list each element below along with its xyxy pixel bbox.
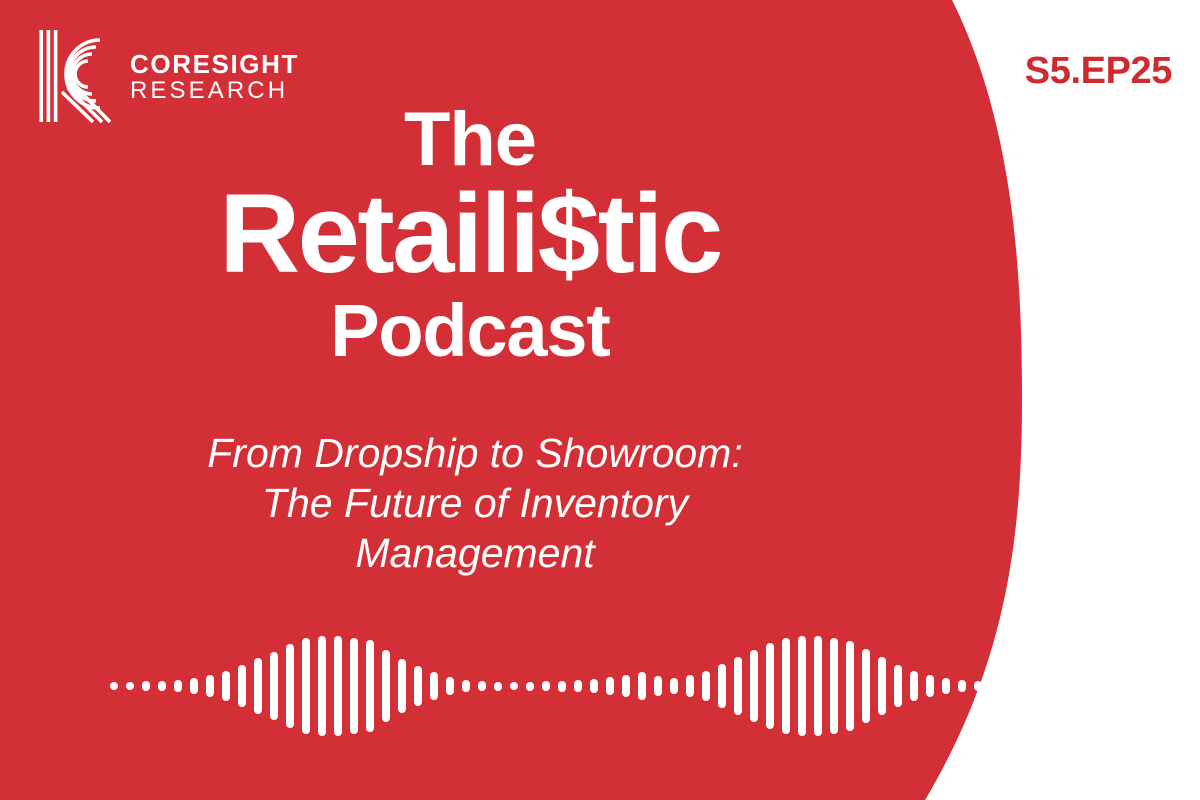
waveform-bar	[190, 678, 198, 694]
waveform-bar	[926, 675, 934, 697]
waveform-bar	[1054, 679, 1062, 693]
waveform-bar	[478, 681, 486, 691]
waveform-bar	[414, 666, 422, 706]
waveform-bar	[382, 650, 390, 722]
waveform-bar	[1006, 681, 1014, 692]
waveform-bar	[206, 675, 214, 697]
waveform-bar	[1022, 680, 1030, 692]
waveform-bar	[606, 677, 614, 695]
waveform-bar	[430, 672, 438, 700]
waveform-bar	[894, 665, 902, 707]
waveform-bar	[1118, 675, 1126, 697]
waveform-bar	[686, 675, 694, 697]
waveform-bar	[542, 681, 550, 691]
logo-word-research: RESEARCH	[130, 78, 299, 105]
waveform-bar	[1134, 674, 1142, 698]
waveform-bar	[782, 638, 790, 734]
waveform-bar	[350, 638, 358, 734]
episode-title-line-1: From Dropship to Showroom:	[0, 428, 950, 478]
waveform-bar	[286, 644, 294, 728]
waveform-bar	[510, 682, 518, 690]
waveform-bar	[638, 672, 646, 700]
waveform-bar	[222, 671, 230, 701]
waveform-bar	[446, 677, 454, 695]
waveform-bar	[126, 682, 134, 690]
waveform-bar	[846, 641, 854, 731]
audio-waveform-icon	[110, 628, 850, 744]
waveform-bar	[718, 664, 726, 708]
waveform-bar	[526, 682, 534, 691]
waveform-bar	[158, 681, 166, 691]
waveform-bar	[1182, 671, 1190, 701]
waveform-bar	[270, 652, 278, 720]
waveform-bar	[366, 640, 374, 732]
waveform-bar	[590, 679, 598, 693]
waveform-bar	[958, 680, 966, 692]
waveform-bar	[878, 657, 886, 715]
show-title-name: Retaili$tic	[0, 177, 940, 291]
waveform-bar	[814, 636, 822, 736]
waveform-bar	[750, 650, 758, 722]
waveform-bar	[1038, 680, 1046, 693]
waveform-bar	[1102, 676, 1110, 696]
waveform-bar	[574, 680, 582, 692]
waveform-bar	[974, 681, 982, 691]
waveform-bar	[334, 636, 342, 736]
show-title-article: The	[0, 104, 940, 175]
episode-title-line-3: Management	[0, 528, 950, 578]
waveform-bar	[1150, 673, 1158, 699]
episode-title: From Dropship to Showroom: The Future of…	[0, 428, 950, 578]
waveform-bar	[238, 665, 246, 707]
waveform-bar	[910, 671, 918, 701]
waveform-bar	[254, 658, 262, 714]
waveform-bar	[494, 682, 502, 691]
waveform-bar	[142, 681, 150, 691]
episode-title-line-2: The Future of Inventory	[0, 478, 950, 528]
waveform-bar	[318, 636, 326, 736]
waveform-bar	[830, 638, 838, 734]
waveform-bar	[110, 682, 118, 690]
waveform-bar	[702, 671, 710, 701]
waveform-bar	[862, 649, 870, 723]
waveform-bar	[734, 657, 742, 715]
waveform-bar	[174, 680, 182, 692]
logo-word-coresight: CORESIGHT	[130, 51, 299, 78]
waveform-bar	[462, 680, 470, 692]
waveform-bar	[654, 676, 662, 696]
waveform-bar	[990, 681, 998, 691]
waveform-bar	[798, 636, 806, 736]
waveform-bar	[1086, 677, 1094, 695]
waveform-bar	[1166, 672, 1174, 700]
show-title-kind: Podcast	[0, 294, 940, 368]
waveform-bar	[302, 638, 310, 734]
waveform-bar	[398, 659, 406, 713]
logo-wordmark: CORESIGHT RESEARCH	[130, 47, 299, 105]
waveform-bar	[766, 643, 774, 729]
episode-badge: S5.EP25	[1025, 50, 1172, 93]
waveform-bar	[558, 681, 566, 692]
waveform-bar	[942, 678, 950, 694]
waveform-bar	[1070, 678, 1078, 694]
podcast-cover-artwork: CORESIGHT RESEARCH S5.EP25 The Retaili$t…	[0, 0, 1200, 800]
waveform-bar	[670, 678, 678, 694]
show-title-lockup: The Retaili$tic Podcast	[0, 104, 940, 368]
waveform-bar	[622, 675, 630, 697]
